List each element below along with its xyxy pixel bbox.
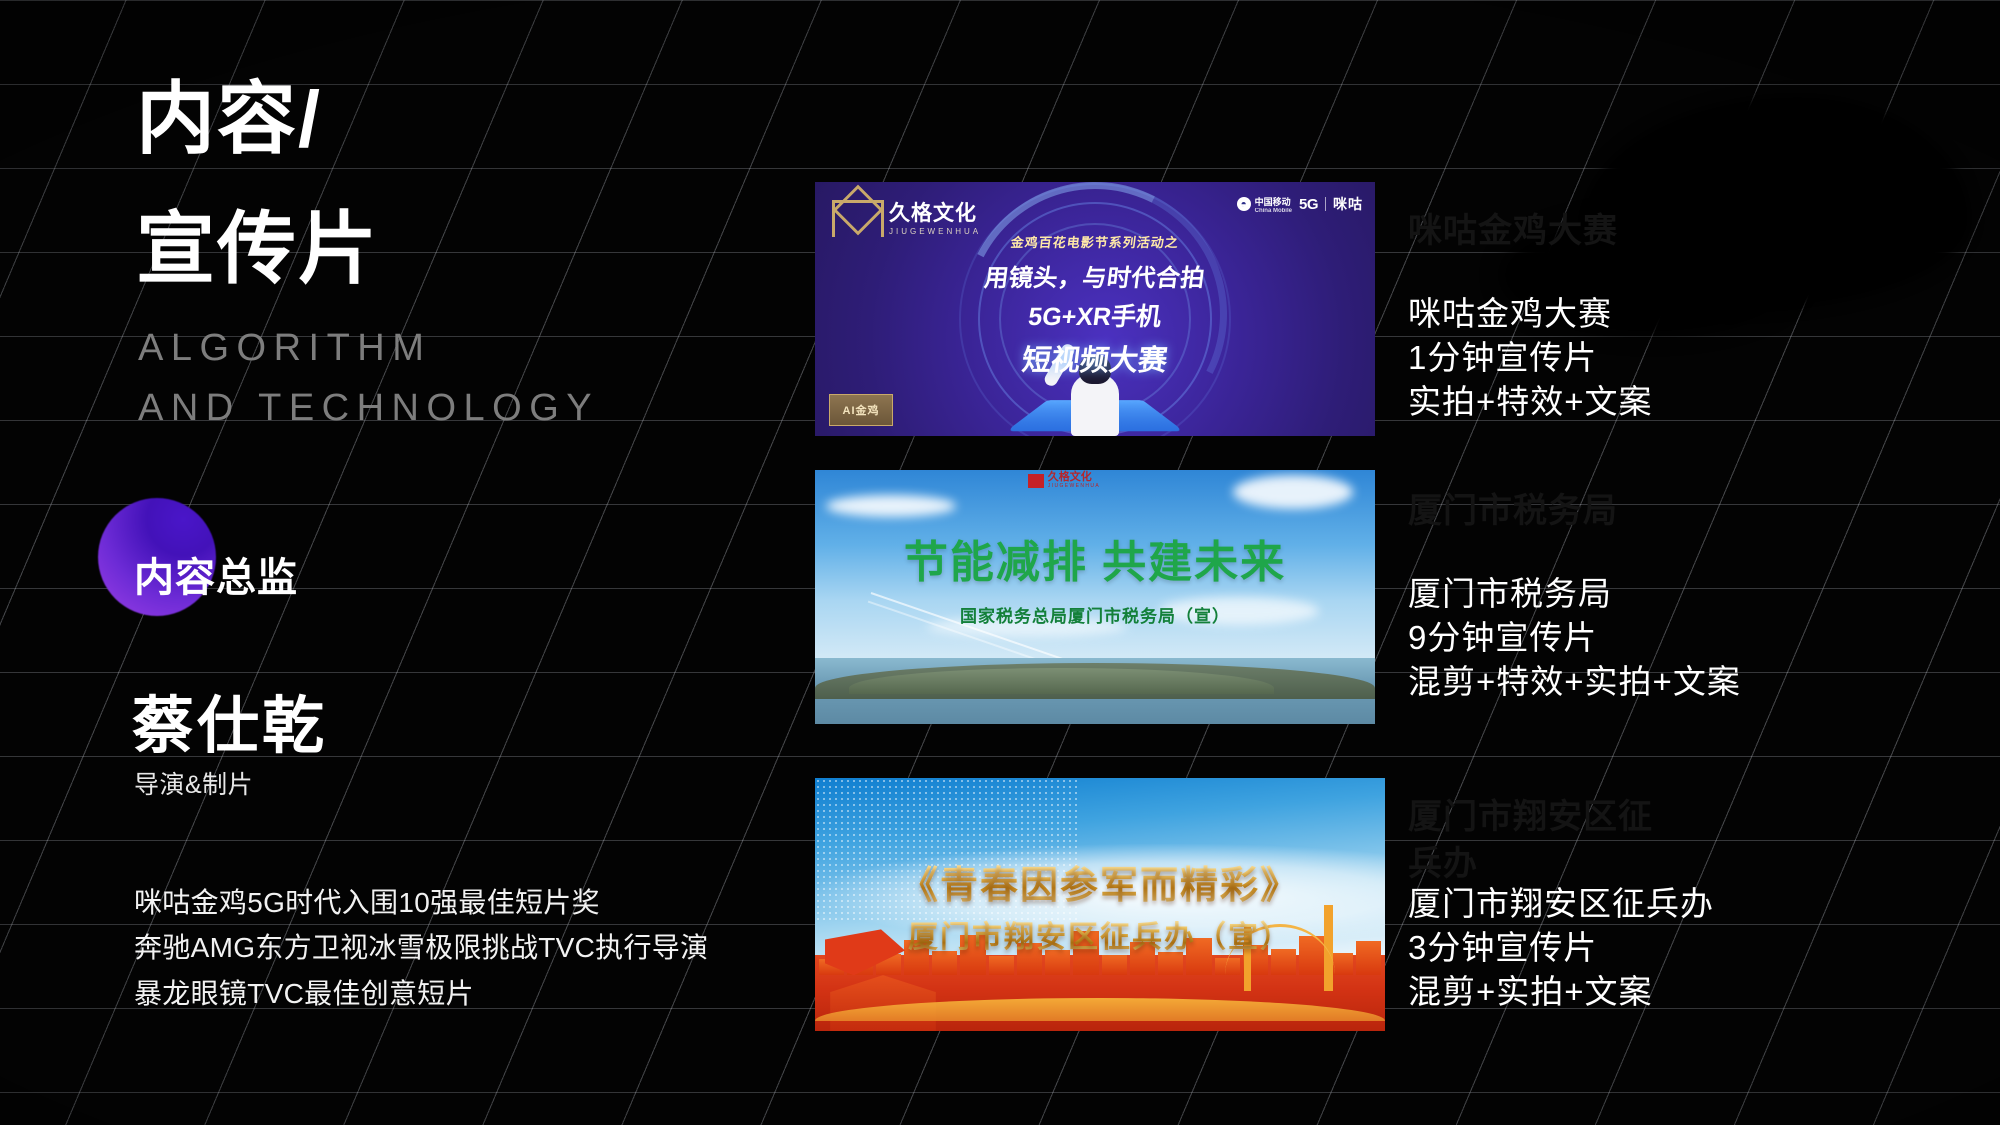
cloud-shape (1233, 475, 1353, 509)
project-duration: 3分钟宣传片 (1408, 926, 1714, 970)
poster-headline-group: 金鸡百花电影节系列活动之 用镜头，与时代合拍 5G+XR手机 短视频大赛 (985, 232, 1206, 379)
china-mobile-mark-icon: ◓ (1237, 197, 1251, 211)
ghost-label: 厦门市翔安区征兵办 (1408, 794, 1658, 888)
poster-headline-1: 用镜头，与时代合拍 (983, 258, 1208, 293)
project-duration: 9分钟宣传片 (1408, 616, 1741, 660)
person-name: 蔡仕乾 (132, 675, 327, 765)
project-techniques: 混剪+实拍+文案 (1408, 970, 1714, 1014)
credits-list: 咪咕金鸡5G时代入围10强最佳短片奖 奔驰AMG东方卫视冰雪极限挑战TVC执行导… (134, 880, 708, 1016)
project-duration: 1分钟宣传片 (1408, 336, 1653, 380)
person-role: 导演&制片 (134, 765, 253, 801)
project-thumbnail-migu[interactable]: 久格文化 JIUGEWENHUA 金鸡百花电影节系列活动之 用镜头，与时代合拍 … (815, 182, 1375, 436)
project-info-tax-bureau: 厦门市税务局 厦门市税务局 9分钟宣传片 混剪+特效+实拍+文案 (1408, 480, 1741, 612)
studio-logo-cn: 久格文化 (1048, 472, 1100, 483)
house-logo-icon (1028, 474, 1044, 488)
credit-item: 咪咕金鸡5G时代入围10强最佳短片奖 (134, 880, 708, 925)
project-info-migu: 咪咕金鸡大赛 咪咕金鸡大赛 1分钟宣传片 实拍+特效+文案 (1408, 200, 1653, 332)
project-thumbnail-conscription[interactable]: 《青春因参军而精彩》 厦门市翔安区征兵办（宣） (815, 778, 1385, 1031)
house-logo-icon (829, 192, 883, 236)
poster-partner-logos: ◓ 中国移动 China Mobile 5G 咪咕 (1237, 194, 1363, 214)
poster-eyebrow: 金鸡百花电影节系列活动之 (984, 232, 1207, 251)
poster-headline-3: 短视频大赛 (982, 337, 1208, 379)
china-mobile-logo: ◓ 中国移动 China Mobile (1237, 195, 1292, 214)
left-column: 内容/ 宣传片 ALGORITHM AND TECHNOLOGY 内容总监 蔡仕… (0, 0, 800, 1125)
china-mobile-cn: 中国移动 (1255, 195, 1292, 208)
project-title: 厦门市税务局 (1408, 572, 1741, 616)
project-title: 厦门市翔安区征兵办 (1408, 882, 1714, 926)
project-thumbnail-tax-bureau[interactable]: 久格文化 JIUGEWENHUA 节能减排 共建未来 国家税务总局厦门市税务局（… (815, 470, 1375, 724)
credit-item: 暴龙眼镜TVC最佳创意短片 (134, 971, 708, 1016)
poster-subline: 国家税务总局厦门市税务局（宣） (960, 602, 1230, 627)
page-title-line-1: 内容/ (136, 78, 322, 160)
poster-subline: 厦门市翔安区征兵办（宣） (908, 912, 1292, 956)
slide-canvas: 内容/ 宣传片 ALGORITHM AND TECHNOLOGY 内容总监 蔡仕… (0, 0, 2000, 1125)
studio-logo-en: JIUGEWENHUA (889, 227, 981, 236)
ghost-label: 咪咕金鸡大赛 (1408, 208, 1618, 255)
poster-headline-2: 5G+XR手机 (983, 297, 1208, 333)
role-badge-label: 内容总监 (134, 545, 298, 603)
project-techniques: 混剪+特效+实拍+文案 (1408, 660, 1741, 704)
china-mobile-en: China Mobile (1255, 208, 1292, 214)
ghost-label: 厦门市税务局 (1408, 488, 1618, 535)
divider (1325, 197, 1326, 211)
poster-headline: 《青春因参军而精彩》 (900, 854, 1300, 909)
project-title: 咪咕金鸡大赛 (1408, 292, 1653, 336)
studio-logo: 久格文化 JIUGEWENHUA (1028, 472, 1100, 489)
migu-logo-label: 咪咕 (1333, 194, 1363, 214)
subtitle-english-line-1: ALGORITHM (138, 325, 431, 373)
subtitle-english-line-2: AND TECHNOLOGY (138, 385, 599, 433)
poster-corner-badge: AI金鸡 (829, 394, 893, 426)
poster-headline: 节能减排 共建未来 (904, 526, 1286, 590)
project-info-conscription: 厦门市翔安区征兵办 厦门市翔安区征兵办 3分钟宣传片 混剪+实拍+文案 (1408, 790, 1714, 922)
studio-logo-cn: 久格文化 (889, 203, 981, 224)
project-techniques: 实拍+特效+文案 (1408, 380, 1653, 424)
five-g-label: 5G (1299, 196, 1318, 213)
credit-item: 奔驰AMG东方卫视冰雪极限挑战TVC执行导演 (134, 925, 708, 970)
studio-logo: 久格文化 JIUGEWENHUA (829, 192, 981, 236)
studio-logo-en: JIUGEWENHUA (1048, 483, 1100, 489)
page-title-line-2: 宣传片 (136, 208, 379, 290)
